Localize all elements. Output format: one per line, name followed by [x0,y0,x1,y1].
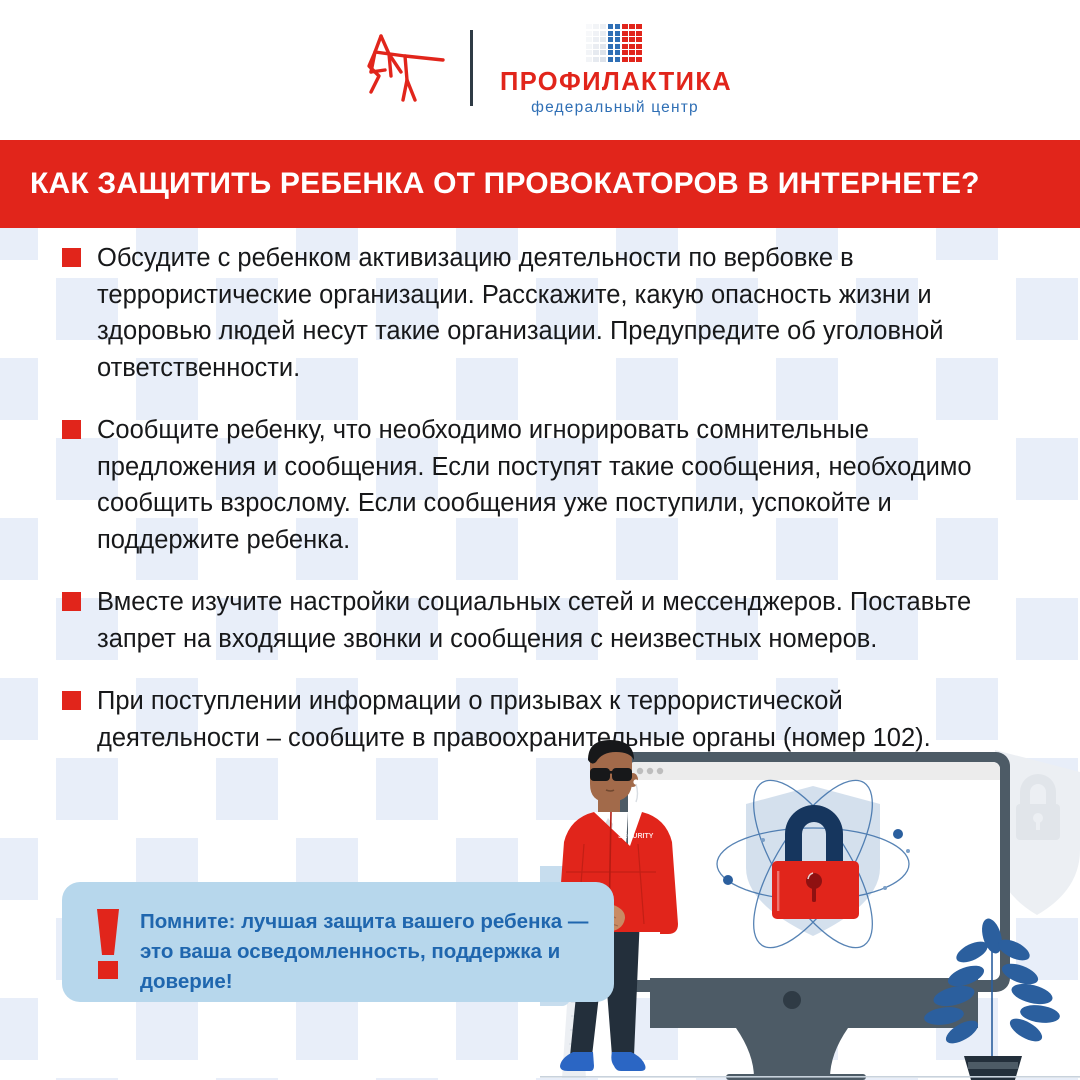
poster-canvas: SECURITY [0,0,1080,1080]
brand-grid-cell [636,50,642,55]
brand-grid-cell [600,31,606,36]
jacket-logo-text: SECURITY [618,833,654,840]
brand-grid-cell [593,50,599,55]
brand-grid-cell [586,37,592,42]
brand-grid-cell [622,50,628,55]
brand-grid-cell [615,50,621,55]
brand-grid-cell [629,50,635,55]
brand-grid-cell [629,44,635,49]
brand-grid-cell [600,57,606,62]
red-square-bullet [62,420,81,439]
brand-grid-cell [629,37,635,42]
red-square-bullet [62,592,81,611]
grid-tile [296,998,358,1060]
brand-grid-cell [622,31,628,36]
list-item-text: Вместе изучите настройки социальных сете… [97,584,1010,657]
brand-grid-cell [593,24,599,29]
brand-grid-cell [600,24,606,29]
brand-grid-cell [615,57,621,62]
orbit-dot-3 [906,849,910,853]
brand-grid-cell [629,57,635,62]
brand-grid-cell [586,44,592,49]
brand-grid-cell [586,50,592,55]
brand-grid-cell [636,31,642,36]
list-item-text: Обсудите с ребенком активизацию деятельн… [97,240,1010,386]
brand-subtitle: федеральный центр [500,100,730,116]
reminder-text: Помните: лучшая защита вашего ребенка — … [140,907,600,997]
list-item: Обсудите с ребенком активизацию деятельн… [0,240,1010,386]
brand-grid-cell [593,37,599,42]
brand-grid-cell [608,44,614,49]
horse-outline-icon [355,26,447,110]
brand-header: ПРОФИЛАКТИКА федеральный центр [0,0,1080,140]
orbit-dot-4 [761,838,765,842]
brand-name: ПРОФИЛАКТИКА [500,70,730,96]
logo-divider [470,30,473,106]
brand-grid-cell [629,31,635,36]
brand-grid-cell [636,44,642,49]
brand-grid-cell [600,50,606,55]
red-square-bullet [62,691,81,710]
brand-grid-cell [615,24,621,29]
brand-grid-cell [600,44,606,49]
brand-grid-cell [622,44,628,49]
brand-grid-cell [608,57,614,62]
list-item: При поступлении информации о призывах к … [0,683,1010,756]
brand-grid-cell [593,57,599,62]
brand-grid-cell [636,37,642,42]
orbit-dot-5 [883,886,887,890]
orbit-dot-2 [723,875,733,885]
brand-grid-cell [586,31,592,36]
list-item: Вместе изучите настройки социальных сете… [0,584,1010,657]
grid-tile [136,998,198,1060]
title-banner: КАК ЗАЩИТИТЬ РЕБЕНКА ОТ ПРОВОКАТОРОВ В И… [0,140,1080,228]
grid-tile [0,838,38,900]
monitor-led [783,991,801,1009]
brand-grid-cell [600,37,606,42]
ground-line [540,1076,1080,1078]
red-square-bullet [62,248,81,267]
brand-grid-cell [622,37,628,42]
brand-grid-cell [636,24,642,29]
grid-tile [0,998,38,1060]
brand-block: ПРОФИЛАКТИКА федеральный центр [500,24,730,116]
brand-grid-cell [608,37,614,42]
grid-tile [1016,438,1078,500]
brand-grid-cell [629,24,635,29]
page-title: КАК ЗАЩИТИТЬ РЕБЕНКА ОТ ПРОВОКАТОРОВ В И… [0,167,980,201]
grid-tile [456,998,518,1060]
list-item-text: При поступлении информации о призывах к … [97,683,1010,756]
grid-tile [1016,278,1078,340]
brand-grid-cell [608,31,614,36]
list-item: Сообщите ребенку, что необходимо игнорир… [0,412,1010,558]
brand-grid-cell [593,31,599,36]
list-item-text: Сообщите ребенку, что необходимо игнорир… [97,412,1010,558]
brand-grid-cell [586,24,592,29]
brand-grid-cell [608,24,614,29]
illustration: SECURITY [540,740,1080,1080]
reminder-callout: Помните: лучшая защита вашего ребенка — … [62,882,614,1002]
orbit-dot-1 [893,829,903,839]
brand-grid-cell [622,57,628,62]
grid-tile [1016,598,1078,660]
brand-grid-cell [586,57,592,62]
brand-grid-cell [608,50,614,55]
shoe-right [611,1052,645,1071]
pixel-grid-icon [586,24,648,66]
brand-grid-cell [636,57,642,62]
brand-grid-cell [593,44,599,49]
brand-grid-cell [615,37,621,42]
brand-grid-cell [622,24,628,29]
brand-grid-cell [615,31,621,36]
advice-list: Обсудите с ребенком активизацию деятельн… [0,240,1010,782]
brand-grid-cell [615,44,621,49]
exclamation-mark-icon [94,909,122,979]
